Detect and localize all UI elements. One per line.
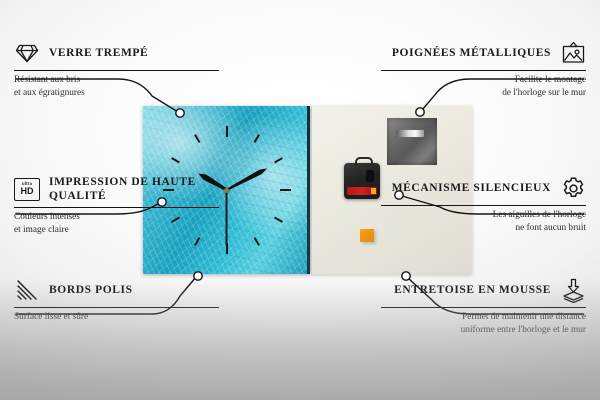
feature-poignees-metalliques[interactable]: POIGNÉES MÉTALLIQUES Facilite le montage… (381, 40, 586, 99)
feature-header: VERRE TREMPÉ (14, 40, 219, 66)
feature-subtitle: Permet de maintenir une distance uniform… (381, 311, 586, 336)
clock-tick-12 (226, 126, 228, 190)
diamond-icon (14, 40, 40, 66)
mechanism-vent (366, 170, 374, 182)
clock-tick-3 (227, 189, 291, 191)
feature-header: BORDS POLIS (14, 277, 219, 303)
feature-header: ENTRETOISE EN MOUSSE (381, 277, 586, 303)
gear-icon (560, 175, 586, 201)
product-infographic: VERRE TREMPÉ Résistant aux bris et aux é… (0, 0, 600, 400)
feature-subtitle: Surface lisse et sûre (14, 311, 219, 323)
metal-handle-plate-icon (387, 118, 437, 165)
framed-picture-icon (560, 40, 586, 66)
clock-center-pivot (224, 188, 229, 193)
polished-edge-icon (14, 277, 40, 303)
feature-subtitle: Facilite le montage de l'horloge sur le … (381, 74, 586, 99)
feature-rule (381, 307, 586, 308)
clock-hand-second (226, 190, 228, 245)
feature-entretoise-en-mousse[interactable]: ENTRETOISE EN MOUSSE Permet de maintenir… (381, 277, 586, 336)
feature-subtitle: Couleurs intenses et image claire (14, 211, 219, 236)
feature-header: POIGNÉES MÉTALLIQUES (381, 40, 586, 66)
feature-title: BORDS POLIS (49, 283, 133, 297)
battery (347, 187, 377, 195)
quartz-mechanism-box (344, 163, 380, 199)
feature-bords-polis[interactable]: BORDS POLIS Surface lisse et sûre (14, 277, 219, 324)
handle-slot (396, 130, 424, 137)
feature-rule (14, 207, 219, 208)
down-arrow-pad-icon (560, 277, 586, 303)
feature-subtitle: Les aiguilles de l'horloge ne font aucun… (381, 209, 586, 234)
feature-mecanisme-silencieux[interactable]: MÉCANISME SILENCIEUX Les aiguilles de l'… (381, 175, 586, 234)
ultra-hd-icon: ultra HD (14, 176, 40, 202)
feature-rule (14, 70, 219, 71)
glass-edge (307, 106, 310, 274)
feature-title: POIGNÉES MÉTALLIQUES (392, 46, 551, 60)
feature-impression-haute-qualite[interactable]: ultra HD IMPRESSION DE HAUTE QUALITÉ Cou… (14, 175, 219, 236)
feature-rule (381, 70, 586, 71)
feature-rule (381, 205, 586, 206)
feature-header: MÉCANISME SILENCIEUX (381, 175, 586, 201)
ultra-hd-icon-main-label: HD (21, 187, 34, 196)
feature-header: ultra HD IMPRESSION DE HAUTE QUALITÉ (14, 175, 219, 203)
feature-rule (14, 307, 219, 308)
feature-title: VERRE TREMPÉ (49, 46, 148, 60)
feature-verre-trempe[interactable]: VERRE TREMPÉ Résistant aux bris et aux é… (14, 40, 219, 99)
hanging-loop (355, 157, 373, 168)
feature-subtitle: Résistant aux bris et aux égratignures (14, 74, 219, 99)
feature-title: IMPRESSION DE HAUTE QUALITÉ (49, 175, 219, 203)
foam-spacer (360, 229, 374, 242)
feature-title: ENTRETOISE EN MOUSSE (394, 283, 551, 297)
feature-title: MÉCANISME SILENCIEUX (392, 181, 551, 195)
